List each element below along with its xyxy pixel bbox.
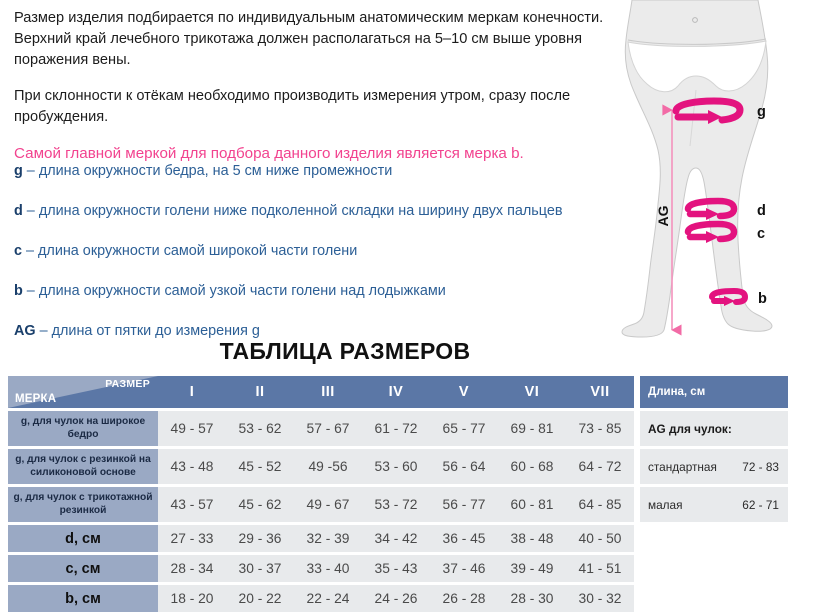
- row-label-g-knit-band: g, для чулок с трикотажной резинкой: [8, 487, 158, 522]
- body-silhouette: [622, 0, 772, 337]
- row-label-c: c, см: [8, 555, 158, 582]
- legend-key-d: d: [14, 203, 23, 219]
- cell-r4-c2: 33 - 40: [294, 555, 362, 582]
- page-title: ТАБЛИЦА РАЗМЕРОВ: [0, 338, 690, 365]
- cell-r1-c4: 56 - 64: [430, 449, 498, 484]
- cell-r3-c4: 36 - 45: [430, 525, 498, 552]
- size-table: РАЗМЕР МЕРКА I II III IV V VI VII Длина,…: [8, 373, 788, 615]
- legend-text-ag: длина от пятки до измерения g: [52, 323, 260, 339]
- figure-label-g: g: [757, 104, 766, 120]
- cell-r1-c3: 53 - 60: [362, 449, 430, 484]
- cell-r3-c0: 27 - 33: [158, 525, 226, 552]
- legend-dash-b: –: [27, 283, 35, 299]
- cell-r5-c2: 22 - 24: [294, 585, 362, 612]
- cell-r0-c4: 65 - 77: [430, 411, 498, 446]
- legend-item-d: d – длина окружности голени ниже подколе…: [14, 202, 624, 220]
- legend-text-b: длина окружности самой узкой части голен…: [39, 283, 446, 299]
- table-header-row: РАЗМЕР МЕРКА I II III IV V VI VII Длина,…: [8, 376, 788, 408]
- size-column-2: II: [226, 376, 294, 408]
- cell-r1-c0: 43 - 48: [158, 449, 226, 484]
- figure-label-d: d: [757, 203, 766, 219]
- size-column-3: III: [294, 376, 362, 408]
- cell-r0-c6: 73 - 85: [566, 411, 634, 446]
- cell-r0-c2: 57 - 67: [294, 411, 362, 446]
- intro-paragraph-2: При склонности к отёкам необходимо произ…: [14, 86, 614, 128]
- size-column-7: VII: [566, 376, 634, 408]
- side-entry-small-name: малая: [648, 498, 683, 512]
- row-label-b: b, см: [8, 585, 158, 612]
- cell-r4-c4: 37 - 46: [430, 555, 498, 582]
- row-label-d: d, см: [8, 525, 158, 552]
- cell-r2-c4: 56 - 77: [430, 487, 498, 522]
- corner-size-label: РАЗМЕР: [105, 378, 150, 390]
- row-label-g-wide-thigh: g, для чулок на широкое бедро: [8, 411, 158, 446]
- cell-r4-c5: 39 - 49: [498, 555, 566, 582]
- figure-label-ag: AG: [655, 205, 671, 226]
- cell-r3-c3: 34 - 42: [362, 525, 430, 552]
- legend-item-c: c – длина окружности самой широкой части…: [14, 242, 624, 260]
- legend-item-b: b – длина окружности самой узкой части г…: [14, 282, 624, 300]
- cell-r5-c4: 26 - 28: [430, 585, 498, 612]
- cell-r1-c1: 45 - 52: [226, 449, 294, 484]
- cell-r5-c6: 30 - 32: [566, 585, 634, 612]
- legend-key-g: g: [14, 163, 23, 179]
- side-panel-filler: [640, 555, 788, 582]
- cell-r1-c5: 60 - 68: [498, 449, 566, 484]
- table-row: g, для чулок с трикотажной резинкой 43 -…: [8, 487, 788, 522]
- table-row: g, для чулок с резинкой на силиконовой о…: [8, 449, 788, 484]
- legend-dash-ag: –: [40, 323, 48, 339]
- cell-r3-c1: 29 - 36: [226, 525, 294, 552]
- cell-r1-c6: 64 - 72: [566, 449, 634, 484]
- cell-r3-c5: 38 - 48: [498, 525, 566, 552]
- cell-r5-c1: 20 - 22: [226, 585, 294, 612]
- legend-dash-c: –: [26, 243, 34, 259]
- side-panel-title: AG для чулок:: [640, 411, 788, 446]
- cell-r4-c6: 41 - 51: [566, 555, 634, 582]
- side-panel-filler: [640, 525, 788, 552]
- cell-r0-c3: 61 - 72: [362, 411, 430, 446]
- measurement-legend: g – длина окружности бедра, на 5 см ниже…: [14, 162, 624, 362]
- cell-r3-c2: 32 - 39: [294, 525, 362, 552]
- intro-paragraph-1: Размер изделия подбирается по индивидуал…: [14, 8, 614, 71]
- side-entry-small-range: 62 - 71: [742, 498, 779, 512]
- legend-key-b: b: [14, 283, 23, 299]
- cell-r2-c0: 43 - 57: [158, 487, 226, 522]
- cell-r4-c3: 35 - 43: [362, 555, 430, 582]
- legend-text-d: длина окружности голени ниже подколенной…: [39, 203, 563, 219]
- table-corner-cell: РАЗМЕР МЕРКА: [8, 376, 158, 408]
- cell-r0-c1: 53 - 62: [226, 411, 294, 446]
- legend-key-c: c: [14, 243, 22, 259]
- cell-r1-c2: 49 -56: [294, 449, 362, 484]
- table-row: d, см 27 - 33 29 - 36 32 - 39 34 - 42 36…: [8, 525, 788, 552]
- cell-r4-c1: 30 - 37: [226, 555, 294, 582]
- side-entry-standard-range: 72 - 83: [742, 460, 779, 474]
- cell-r0-c0: 49 - 57: [158, 411, 226, 446]
- side-entry-standard-name: стандартная: [648, 460, 717, 474]
- side-entry-small: малая 62 - 71: [640, 487, 788, 522]
- length-panel-header: Длина, см: [640, 376, 788, 408]
- table-row: g, для чулок на широкое бедро 49 - 57 53…: [8, 411, 788, 446]
- figure-label-c: c: [757, 226, 765, 242]
- intro-text-block: Размер изделия подбирается по индивидуал…: [14, 8, 614, 186]
- intro-highlight-note: Самой главной меркой для подбора данного…: [14, 143, 614, 164]
- cell-r4-c0: 28 - 34: [158, 555, 226, 582]
- cell-r3-c6: 40 - 50: [566, 525, 634, 552]
- anatomy-illustration: AG g d c b: [600, 0, 836, 340]
- cell-r2-c2: 49 - 67: [294, 487, 362, 522]
- cell-r5-c3: 24 - 26: [362, 585, 430, 612]
- legend-text-g: длина окружности бедра, на 5 см ниже про…: [39, 163, 392, 179]
- table-row: c, см 28 - 34 30 - 37 33 - 40 35 - 43 37…: [8, 555, 788, 582]
- size-column-1: I: [158, 376, 226, 408]
- cell-r5-c5: 28 - 30: [498, 585, 566, 612]
- cell-r2-c1: 45 - 62: [226, 487, 294, 522]
- legend-key-ag: AG: [14, 323, 36, 339]
- cell-r2-c5: 60 - 81: [498, 487, 566, 522]
- size-column-5: V: [430, 376, 498, 408]
- legend-dash-d: –: [27, 203, 35, 219]
- cell-r2-c3: 53 - 72: [362, 487, 430, 522]
- legend-dash-g: –: [27, 163, 35, 179]
- corner-measure-label: МЕРКА: [15, 393, 56, 405]
- row-label-g-silicone-band: g, для чулок с резинкой на силиконовой о…: [8, 449, 158, 484]
- legend-item-g: g – длина окружности бедра, на 5 см ниже…: [14, 162, 624, 180]
- cell-r2-c6: 64 - 85: [566, 487, 634, 522]
- size-column-6: VI: [498, 376, 566, 408]
- table-row: b, см 18 - 20 20 - 22 22 - 24 24 - 26 26…: [8, 585, 788, 612]
- cell-r0-c5: 69 - 81: [498, 411, 566, 446]
- figure-label-b: b: [758, 291, 767, 307]
- size-column-4: IV: [362, 376, 430, 408]
- side-panel-filler: [640, 585, 788, 612]
- legend-text-c: длина окружности самой широкой части гол…: [38, 243, 357, 259]
- side-entry-standard: стандартная 72 - 83: [640, 449, 788, 484]
- cell-r5-c0: 18 - 20: [158, 585, 226, 612]
